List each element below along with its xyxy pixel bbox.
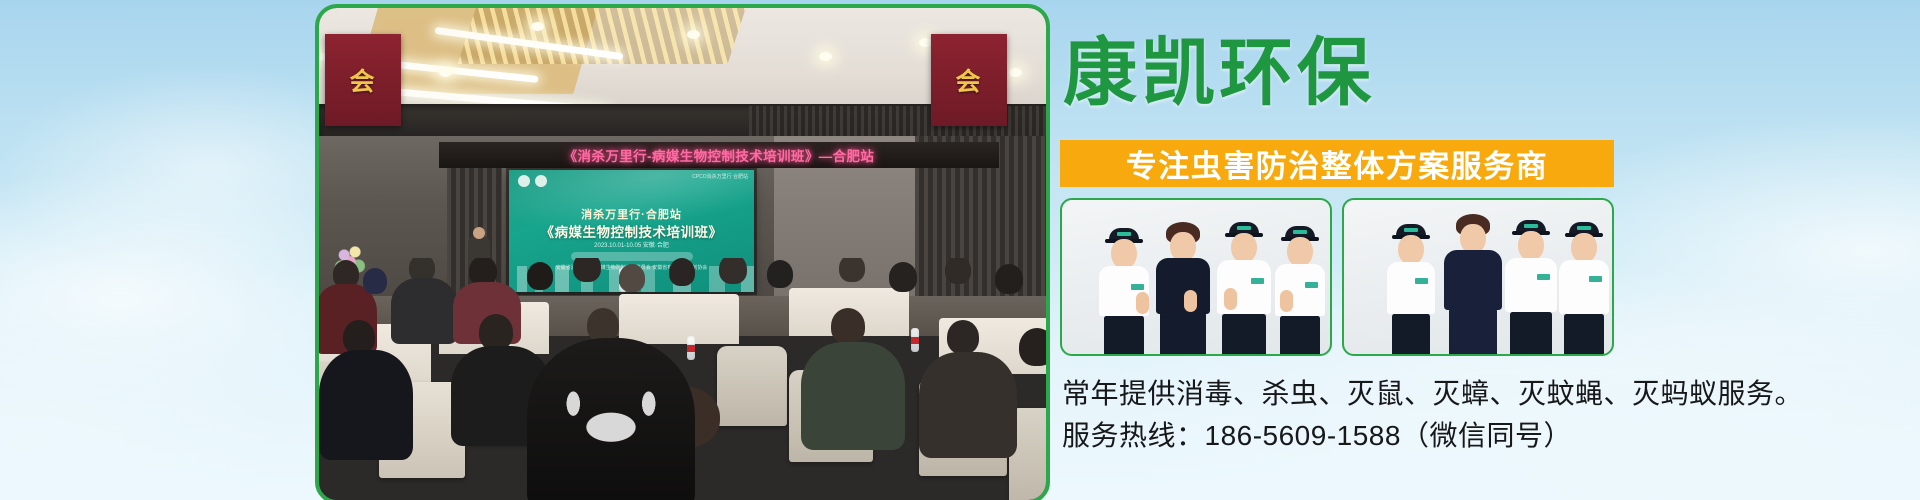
attendee-head xyxy=(839,258,865,282)
ceiling-spotlight xyxy=(819,52,832,61)
face xyxy=(1571,233,1597,263)
attendee-head xyxy=(343,320,375,354)
attendee-head xyxy=(995,264,1023,294)
attendee-body xyxy=(919,352,1017,458)
attendee-head xyxy=(945,258,971,284)
side-banner-right-text: 会 xyxy=(931,62,1007,98)
team-member xyxy=(1098,228,1150,354)
uniform-pants xyxy=(1104,316,1144,356)
company-logo-icon xyxy=(1131,284,1144,290)
banner-stage: 会 会 《消杀万里行-病媒生物控制技术培训班》—合肥站 CPCO消杀万里行 合肥… xyxy=(0,0,1920,500)
suit-jacket xyxy=(1156,258,1210,314)
face xyxy=(1287,237,1313,267)
screen-line-3: 2023.10.01-10.05 安徽·合肥 xyxy=(509,240,754,249)
team-member xyxy=(1504,220,1558,354)
attendee-head xyxy=(363,268,387,294)
team-member xyxy=(1216,222,1272,354)
suit-trousers xyxy=(1449,308,1497,356)
team-member xyxy=(1442,212,1504,354)
team-photo-row xyxy=(1060,198,1614,356)
side-banner-left-text: 会 xyxy=(325,62,401,98)
uniform-shirt xyxy=(1505,258,1557,312)
screen-line-2: 《病媒生物控制技术培训班》 xyxy=(509,221,754,241)
thumbs-up-icon xyxy=(1224,288,1237,310)
company-logo-icon xyxy=(1415,278,1428,284)
team-member xyxy=(1274,226,1326,354)
ceiling-spotlight xyxy=(439,68,452,77)
thumbs-up-icon xyxy=(1280,290,1293,312)
chair xyxy=(717,346,787,426)
attendee-head xyxy=(669,258,695,286)
bull-graphic-icon xyxy=(565,390,657,452)
attendee-head xyxy=(719,258,747,284)
attendee-head xyxy=(573,258,601,282)
page-title: 康凯环保 xyxy=(1063,36,1375,110)
ceiling-spotlight xyxy=(1009,68,1022,77)
tagline-banner: 专注虫害防治整体方案服务商 xyxy=(1060,140,1614,187)
suit-jacket xyxy=(1444,250,1502,310)
uniform-pants xyxy=(1222,314,1266,356)
banquet-table xyxy=(619,294,739,344)
uniform-pants xyxy=(1392,314,1430,356)
ceiling-spotlight xyxy=(687,30,700,39)
tagline-text: 专注虫害防治整体方案服务商 xyxy=(1126,141,1549,186)
attendee-head xyxy=(1019,328,1046,366)
thumbs-up-icon xyxy=(1184,290,1197,312)
attendee-body xyxy=(319,350,413,460)
company-logo-icon xyxy=(1589,276,1602,282)
led-marquee: 《消杀万里行-病媒生物控制技术培训班》—合肥站 xyxy=(439,142,999,168)
face xyxy=(1231,233,1257,263)
team-member xyxy=(1558,222,1610,354)
team-member xyxy=(1154,218,1212,354)
uniform-pants xyxy=(1564,314,1604,356)
side-banner-right: 会 xyxy=(931,34,1007,126)
hotline-text: 服务热线：186-5609-1588（微信同号） xyxy=(1062,414,1572,454)
conference-photo[interactable]: 会 会 《消杀万里行-病媒生物控制技术培训班》—合肥站 CPCO消杀万里行 合肥… xyxy=(315,4,1050,500)
team-photo-1[interactable] xyxy=(1060,198,1332,356)
uniform-pants xyxy=(1280,316,1320,356)
attendee-body xyxy=(801,342,905,450)
thumbs-up-icon xyxy=(1136,292,1149,314)
services-note: 常年提供消毒、杀虫、灭鼠、灭蟑、灭蚊蝇、灭蚂蚁服务。 xyxy=(1062,372,1803,412)
face xyxy=(1111,239,1137,269)
uniform-shirt xyxy=(1387,262,1435,314)
face xyxy=(1398,235,1424,265)
uniform-pants xyxy=(1510,312,1552,356)
screen-corner-text: CPCO消杀万里行 合肥站 xyxy=(692,174,748,181)
conference-photo-image: 会 会 《消杀万里行-病媒生物控制技术培训班》—合肥站 CPCO消杀万里行 合肥… xyxy=(319,8,1046,500)
company-logo-icon xyxy=(1537,274,1550,280)
attendee-head xyxy=(947,320,979,354)
water-bottle xyxy=(687,336,695,360)
side-banner-left: 会 xyxy=(325,34,401,126)
company-logo-icon xyxy=(1305,282,1318,288)
team-member xyxy=(1386,224,1436,354)
suit-trousers xyxy=(1160,312,1206,356)
attendee-head xyxy=(831,308,865,344)
ceiling-spotlight xyxy=(531,22,544,31)
attendee-head xyxy=(889,262,917,292)
screen-line-1: 消杀万里行·合肥站 xyxy=(509,206,754,222)
face xyxy=(1518,231,1544,261)
attendee-head xyxy=(479,314,513,350)
company-logo-icon xyxy=(1251,278,1264,284)
led-marquee-text: 《消杀万里行-病媒生物控制技术培训班》—合肥站 xyxy=(564,145,875,165)
attendee-head xyxy=(767,260,793,288)
attendee-head xyxy=(587,308,619,342)
team-photo-2[interactable] xyxy=(1342,198,1614,356)
attendee-body xyxy=(391,278,457,344)
uniform-shirt xyxy=(1559,260,1609,314)
screen-logos xyxy=(518,175,547,187)
water-bottle xyxy=(911,328,919,352)
attendee-head xyxy=(527,262,553,290)
foreground-attendee-shirt xyxy=(527,338,695,500)
attendee-head xyxy=(619,264,645,292)
